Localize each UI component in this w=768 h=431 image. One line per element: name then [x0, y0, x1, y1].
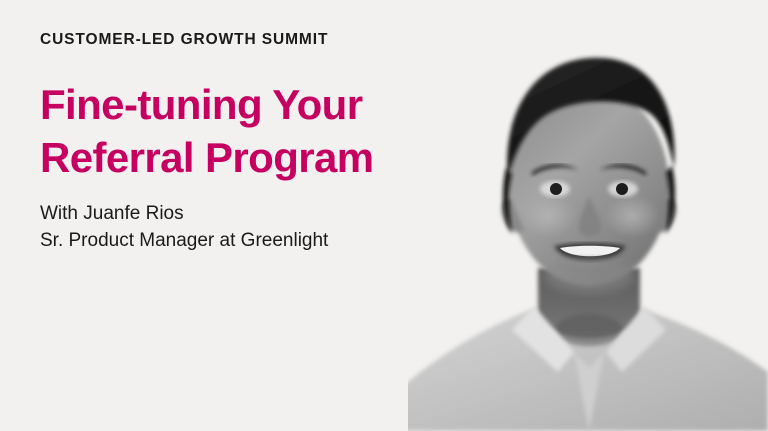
speaker-title: Sr. Product Manager at Greenlight [40, 227, 328, 254]
event-kicker: CUSTOMER-LED GROWTH SUMMIT [40, 30, 328, 50]
page-title-line-2: Referral Program [40, 131, 440, 184]
portrait-illustration [408, 0, 768, 431]
webinar-promo-slide: CUSTOMER-LED GROWTH SUMMIT Fine-tuning Y… [0, 0, 768, 431]
speaker-info: With Juanfe Rios Sr. Product Manager at … [40, 200, 328, 254]
page-title: Fine-tuning Your Referral Program [40, 78, 440, 184]
speaker-portrait-photo [408, 0, 768, 431]
text-column: CUSTOMER-LED GROWTH SUMMIT Fine-tuning Y… [40, 0, 460, 431]
portrait-jaw-shading [543, 258, 635, 294]
page-title-line-1: Fine-tuning Your [40, 78, 440, 131]
speaker-name: With Juanfe Rios [40, 200, 328, 227]
